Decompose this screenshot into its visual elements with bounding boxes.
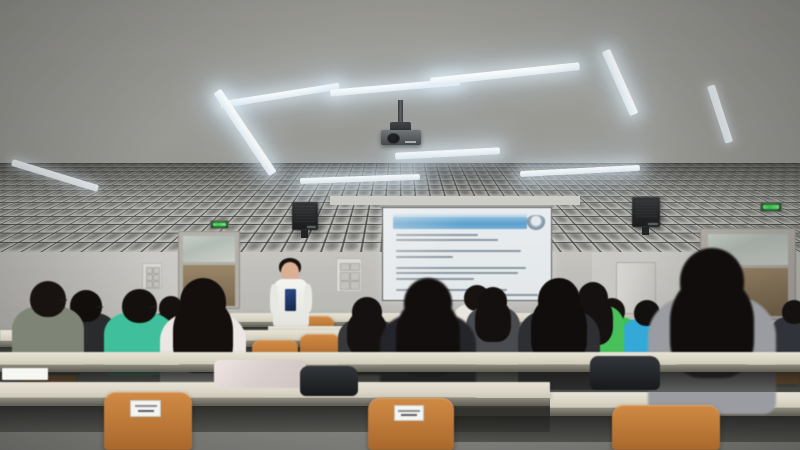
switch-button[interactable] <box>350 263 359 271</box>
label-line-top <box>398 410 420 412</box>
switch-button[interactable] <box>350 281 359 289</box>
exit-sign-right <box>760 202 782 212</box>
fluorescent-tube-mid-center <box>395 147 500 159</box>
label-line-top <box>135 405 157 407</box>
door-window <box>183 236 235 263</box>
exit-sign-left <box>210 220 229 229</box>
switch-button[interactable] <box>340 281 349 289</box>
switch-button[interactable] <box>340 272 349 280</box>
presenter-shirt-graphic <box>285 289 296 311</box>
switch-button[interactable] <box>350 272 359 280</box>
label-line-bottom <box>401 414 417 416</box>
projector <box>381 130 421 145</box>
switch-button[interactable] <box>153 267 160 274</box>
papers-on-desk <box>2 368 48 380</box>
switch-button[interactable] <box>340 263 349 271</box>
fluorescent-tube-back-right <box>430 62 580 86</box>
projector-brand-mark <box>405 141 416 143</box>
backpack-right <box>590 356 660 390</box>
chair-front-center[interactable] <box>104 392 192 450</box>
speaker-grille <box>635 201 657 218</box>
glasses-icon <box>96 306 103 308</box>
light-switch-plate-front[interactable] <box>336 258 362 292</box>
desk-row-second <box>0 352 800 365</box>
fluorescent-tube-back-left <box>220 83 340 109</box>
presenter-arm-right <box>304 284 312 312</box>
slide-header-band <box>393 217 527 229</box>
fluorescent-tube-far-right <box>602 49 639 117</box>
glasses-icon <box>150 306 158 308</box>
desk-row-second-apron <box>0 365 800 372</box>
light-switch-plate-left[interactable] <box>142 263 162 289</box>
chair-front-right[interactable] <box>368 398 454 450</box>
presenter-arm-left <box>270 284 278 314</box>
speaker-logo <box>307 226 316 228</box>
projector-lens <box>387 133 400 144</box>
speaker-bracket <box>642 227 649 235</box>
chair-front-far-right[interactable] <box>612 405 720 450</box>
chair-asset-label <box>130 400 161 417</box>
glasses-icon <box>59 299 67 301</box>
switch-button[interactable] <box>146 281 153 288</box>
presenter-student <box>270 258 312 330</box>
head <box>782 300 800 324</box>
desk-row-front-apron <box>0 398 550 406</box>
wall-soffit <box>330 196 580 205</box>
lecture-hall-photo <box>0 0 800 450</box>
fluorescent-tube-right-edge <box>707 84 733 144</box>
speaker-bracket <box>301 230 308 238</box>
chair-asset-label <box>394 405 424 421</box>
backpack-center <box>300 366 358 396</box>
university-crest-icon <box>527 215 545 230</box>
label-line-bottom <box>138 410 154 412</box>
desk-row-front-underside <box>0 406 550 432</box>
wall-speaker-right <box>632 197 660 227</box>
speaker-grille <box>295 206 316 222</box>
long-hair <box>475 299 512 342</box>
folded-jacket <box>214 360 306 388</box>
speaker-logo <box>648 223 658 225</box>
switch-button[interactable] <box>146 267 153 274</box>
wall-speaker-left <box>292 202 318 230</box>
exit-sign-glow <box>213 223 226 227</box>
exit-sign-glow <box>763 205 779 209</box>
switch-button[interactable] <box>146 274 153 281</box>
